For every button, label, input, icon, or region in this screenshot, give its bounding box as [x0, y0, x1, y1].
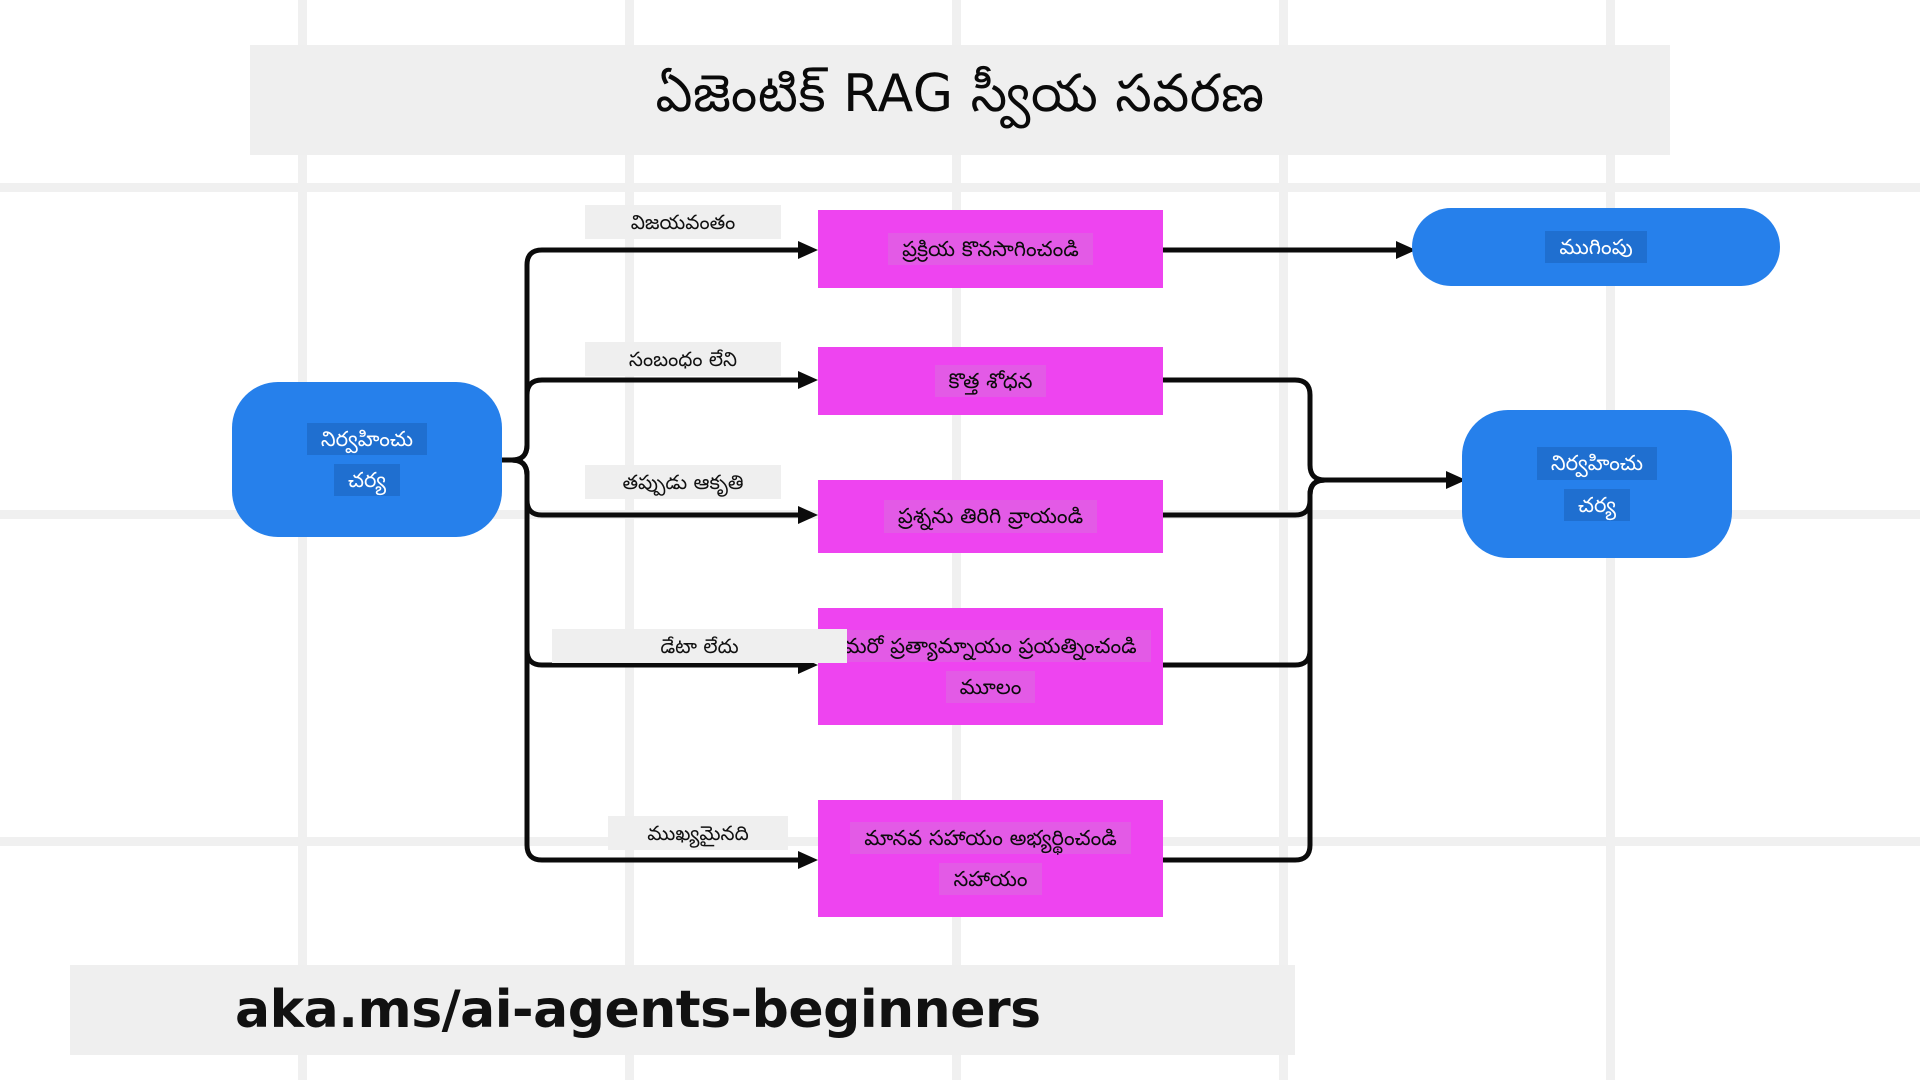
node-label-line: ప్రశ్నను తిరిగి వ్రాయండి — [884, 500, 1097, 532]
node-evaluate-left[interactable]: నిర్వహించు చర్య — [232, 382, 502, 537]
edge-label-critical: ముఖ్యమైనది — [608, 816, 788, 850]
edge-label-wrong-format: తప్పుడు ఆకృతి — [585, 465, 781, 499]
node-label-line: నిర్వహించు — [307, 423, 427, 455]
node-label-line: మరో ప్రత్యామ్నాయం ప్రయత్నించండి — [830, 630, 1150, 662]
node-label-line: సహాయం — [939, 863, 1041, 895]
page-title: ఏజెంటిక్ RAG స్వీయ సవరణ — [250, 45, 1670, 155]
node-continue-process[interactable]: ప్రక్రియ కొనసాగించండి — [818, 210, 1163, 288]
arrowhead — [798, 371, 818, 389]
node-label-line: ముగింపు — [1545, 231, 1646, 263]
arrowhead — [798, 851, 818, 869]
edge-alt-source-to-evaluate — [1163, 480, 1325, 665]
arrowhead — [798, 241, 818, 259]
grid-line-vertical — [625, 0, 634, 1080]
edge-label-successful: విజయవంతం — [585, 205, 781, 239]
diagram-canvas: ఏజెంటిక్ RAG స్వీయ సవరణ aka.ms/ai-agents… — [0, 0, 1920, 1080]
edge-new-search-to-evaluate — [1163, 380, 1450, 480]
node-label-line: చర్య — [334, 464, 400, 496]
grid-line-vertical — [298, 0, 307, 1080]
node-label-line: నిర్వహించు — [1537, 447, 1657, 479]
node-label-line: మూలం — [946, 671, 1036, 703]
node-label-line: ప్రక్రియ కొనసాగించండి — [888, 233, 1093, 265]
node-request-human-help[interactable]: మానవ సహాయం అభ్యర్థించండి సహాయం — [818, 800, 1163, 917]
edge-irrelevant — [502, 380, 810, 460]
node-end[interactable]: ముగింపు — [1412, 208, 1780, 286]
grid-line-horizontal — [0, 183, 1920, 192]
node-label-line: చర్య — [1564, 489, 1630, 521]
edge-label-irrelevant: సంబంధం లేని — [585, 342, 781, 376]
node-try-alternative-source[interactable]: మరో ప్రత్యామ్నాయం ప్రయత్నించండి మూలం — [818, 608, 1163, 725]
footer-link: aka.ms/ai-agents-beginners — [235, 965, 1041, 1055]
grid-line-vertical — [1279, 0, 1288, 1080]
node-label-line: కొత్త శోధన — [935, 365, 1047, 397]
edge-label-no-data: డేటా లేదు — [552, 629, 847, 663]
node-evaluate-right[interactable]: నిర్వహించు చర్య — [1462, 410, 1732, 558]
edge-human-help-to-evaluate — [1163, 480, 1325, 860]
node-label-line: మానవ సహాయం అభ్యర్థించండి — [850, 822, 1131, 854]
node-rewrite-query[interactable]: ప్రశ్నను తిరిగి వ్రాయండి — [818, 480, 1163, 553]
node-new-search[interactable]: కొత్త శోధన — [818, 347, 1163, 415]
